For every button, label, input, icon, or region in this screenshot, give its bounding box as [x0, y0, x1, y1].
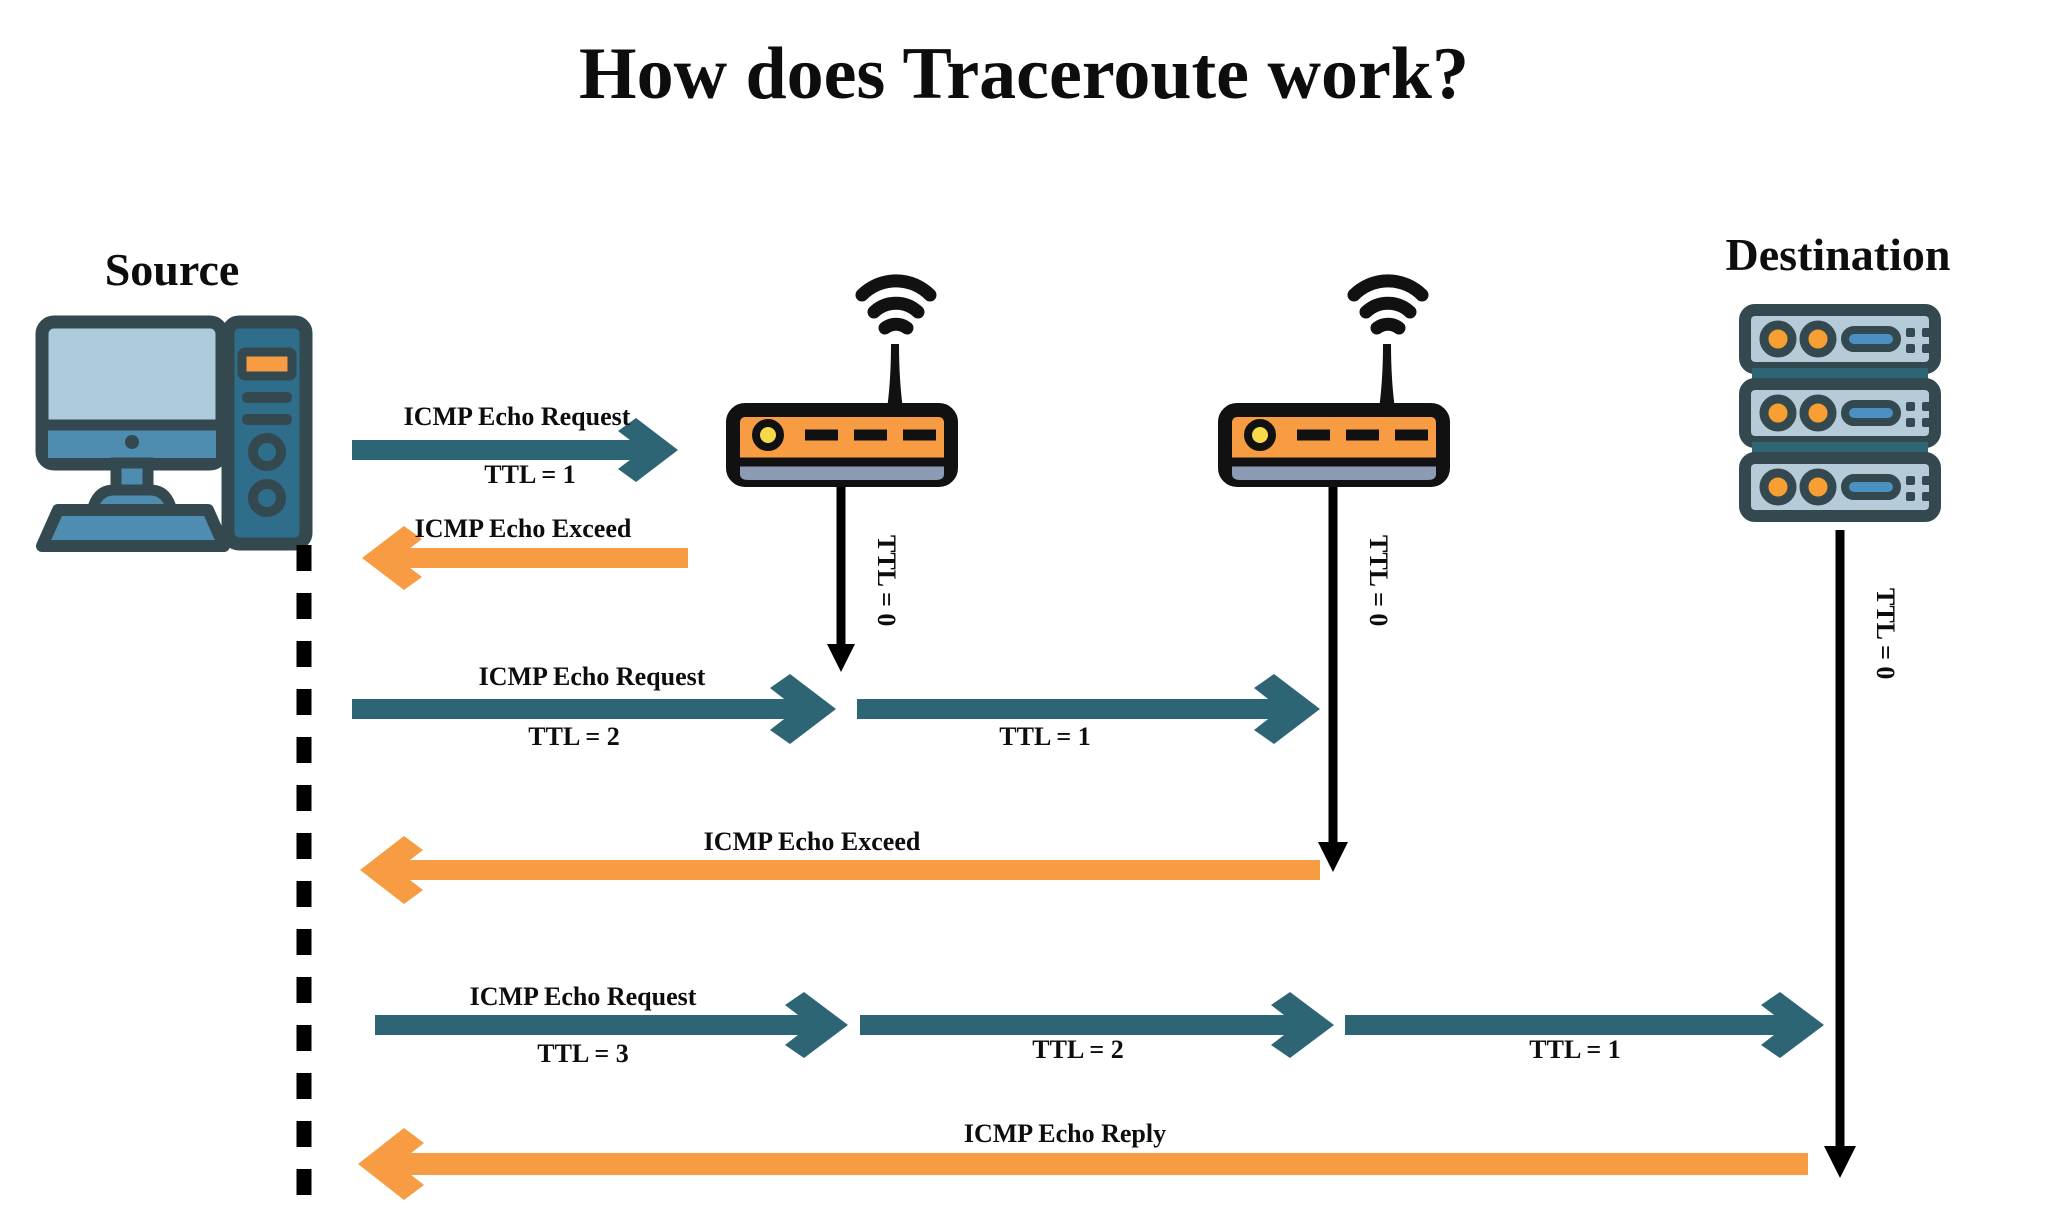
flow-3-request-ttl-seg-3: TTL = 1 [1529, 1035, 1620, 1064]
destination-label: Destination [1726, 229, 1951, 280]
server-indicator-dot [1764, 473, 1792, 501]
server-slot [1845, 330, 1897, 348]
flow-3-reply-message: ICMP Echo Reply [964, 1119, 1166, 1148]
flow-2-request-ttl-seg-1: TTL = 2 [528, 722, 619, 751]
monitor-power-dot [125, 435, 139, 449]
server-indicator-dot [1804, 399, 1832, 427]
wifi-wave-inner [1377, 324, 1399, 328]
tower-drive-slot [242, 352, 292, 376]
wifi-wave-inner [885, 324, 907, 328]
server-slot [1845, 478, 1897, 496]
diagram-canvas: How does Traceroute work? Source Destina… [0, 0, 2048, 1208]
flow-2-reply-message: ICMP Echo Exceed [704, 827, 921, 856]
flow-1-request-ttl: TTL = 1 [484, 460, 575, 489]
flow-1-request-message: ICMP Echo Request [404, 402, 631, 431]
tower-vent-2 [242, 414, 292, 425]
drop-destination-label: TTL = 0 [1871, 588, 1900, 679]
server-rack-icon [1745, 310, 1935, 516]
server-indicator-dot [1804, 325, 1832, 353]
drop-router2-label: TTL = 0 [1364, 535, 1393, 626]
desktop-computer-icon [42, 322, 306, 546]
drop-router1-label: TTL = 0 [872, 535, 901, 626]
keyboard [42, 510, 224, 546]
server-indicator-dot [1804, 473, 1832, 501]
server-slot [1845, 404, 1897, 422]
flow-3-request-message: ICMP Echo Request [470, 982, 697, 1011]
router-led [1248, 423, 1272, 447]
source-label: Source [105, 244, 240, 295]
flow-2-request-ttl-seg-2: TTL = 1 [999, 722, 1090, 751]
server-indicator-dot [1764, 399, 1792, 427]
flow-2-request-message: ICMP Echo Request [479, 662, 706, 691]
flow-1-reply-message: ICMP Echo Exceed [415, 514, 632, 543]
router-led [756, 423, 780, 447]
page-title: How does Traceroute work? [579, 33, 1469, 115]
server-indicator-dot [1764, 325, 1792, 353]
flow-3-request-ttl-seg-1: TTL = 3 [537, 1039, 628, 1068]
tower-vent-1 [242, 392, 292, 403]
flow-3-request-ttl-seg-2: TTL = 2 [1032, 1035, 1123, 1064]
